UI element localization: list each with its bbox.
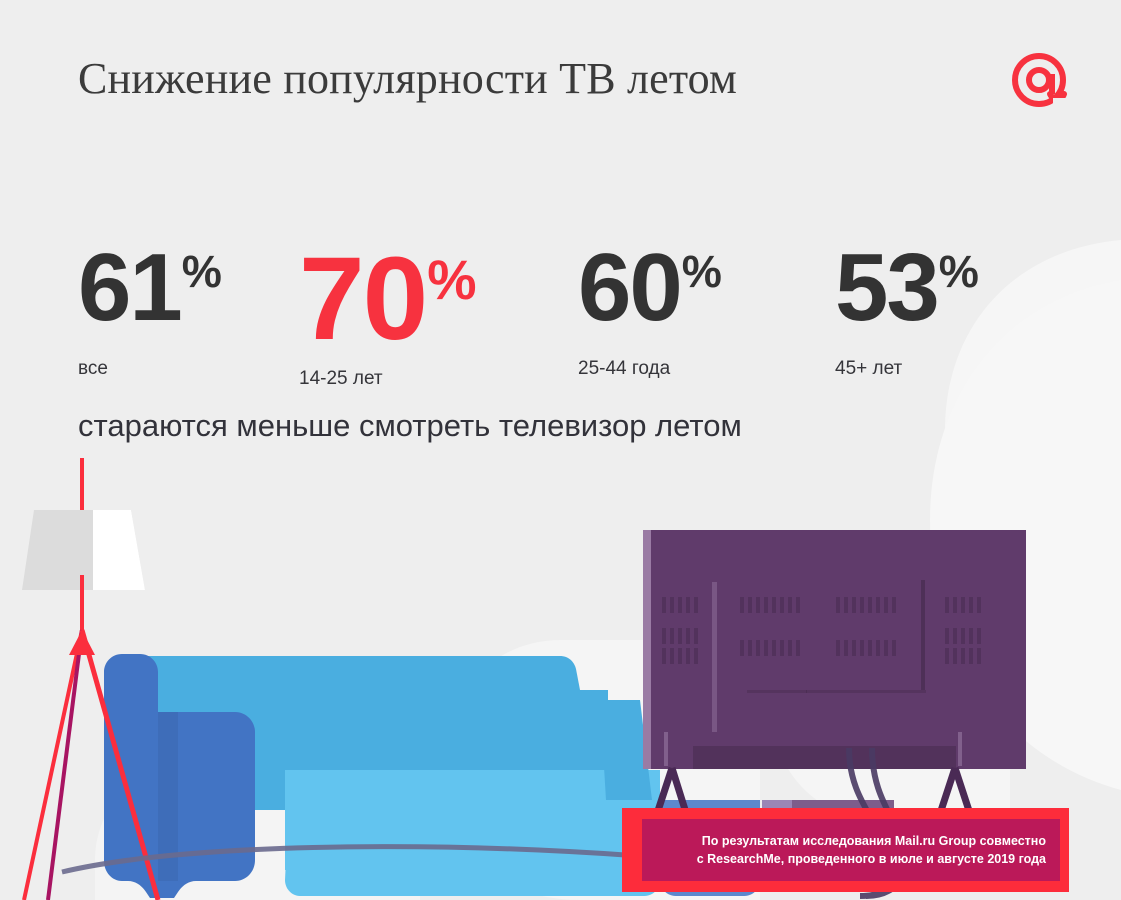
footnote-banner-inner: По результатам исследования Mail.ru Grou…	[642, 819, 1060, 881]
television	[643, 530, 1026, 832]
living-room-illustration	[0, 0, 1121, 900]
infographic-poster: Снижение популярности ТВ летом 61% все 7…	[0, 0, 1121, 900]
footnote-banner: По результатам исследования Mail.ru Grou…	[622, 808, 1069, 892]
footnote-text: По результатам исследования Mail.ru Grou…	[642, 832, 1046, 868]
